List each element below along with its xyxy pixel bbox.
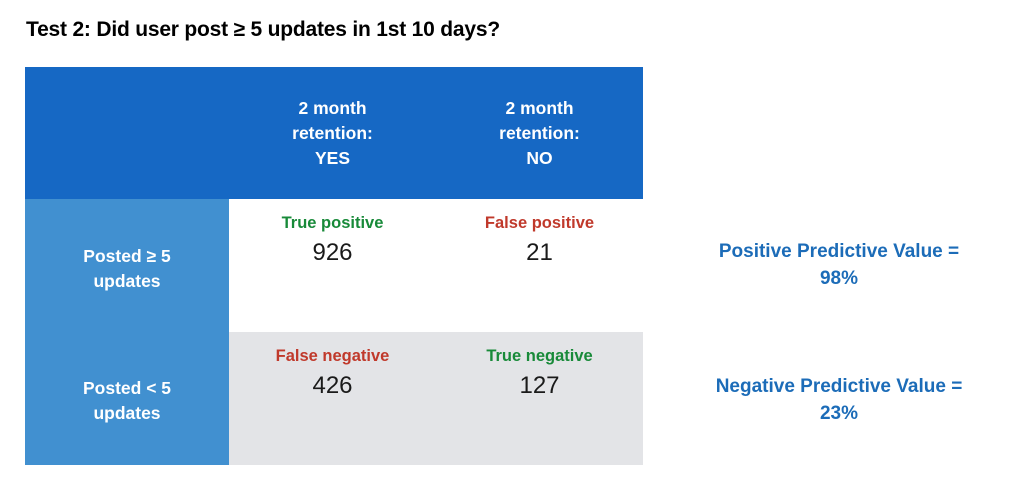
column-header-retention-yes-line2: retention: <box>229 121 436 146</box>
matrix-body: Posted ≥ 5 updates Posted < 5 updates Tr… <box>25 199 643 465</box>
cell-true-negative-label: True negative <box>436 346 643 366</box>
table-row: False negative 426 True negative 127 <box>229 332 643 465</box>
positive-predictive-value-annotation: Positive Predictive Value = 98% <box>660 238 1018 292</box>
column-header-retention-no: 2 month retention: NO <box>436 96 643 171</box>
cell-true-positive-value: 926 <box>229 238 436 268</box>
row-header-posted-lt-5: Posted < 5 updates <box>25 376 229 426</box>
positive-predictive-value-label: Positive Predictive Value = <box>660 238 1018 265</box>
column-header-retention-yes-line3: YES <box>229 146 436 171</box>
negative-predictive-value-label: Negative Predictive Value = <box>660 373 1018 400</box>
column-header-retention-yes-line1: 2 month <box>229 96 436 121</box>
confusion-matrix: 2 month retention: YES 2 month retention… <box>25 67 643 465</box>
cell-true-negative: True negative 127 <box>436 332 643 465</box>
matrix-corner-cell <box>25 67 229 199</box>
cell-true-positive: True positive 926 <box>229 199 436 332</box>
row-header-posted-ge-5-line2: updates <box>25 269 229 294</box>
cell-false-positive: False positive 21 <box>436 199 643 332</box>
matrix-header-row: 2 month retention: YES 2 month retention… <box>25 67 643 199</box>
page-title: Test 2: Did user post ≥ 5 updates in 1st… <box>26 18 500 42</box>
row-header-posted-ge-5-line1: Posted ≥ 5 <box>25 244 229 269</box>
row-header-posted-lt-5-line2: updates <box>25 401 229 426</box>
positive-predictive-value-number: 98% <box>660 265 1018 292</box>
column-header-retention-no-line3: NO <box>436 146 643 171</box>
cell-false-negative-label: False negative <box>229 346 436 366</box>
cell-false-positive-value: 21 <box>436 238 643 268</box>
cell-false-negative-value: 426 <box>229 371 436 401</box>
cell-true-positive-label: True positive <box>229 213 436 233</box>
table-row: True positive 926 False positive 21 <box>229 199 643 332</box>
cell-false-positive-label: False positive <box>436 213 643 233</box>
column-header-retention-no-line1: 2 month <box>436 96 643 121</box>
row-header-posted-ge-5: Posted ≥ 5 updates <box>25 244 229 294</box>
row-header-posted-lt-5-line1: Posted < 5 <box>25 376 229 401</box>
negative-predictive-value-number: 23% <box>660 400 1018 427</box>
cell-true-negative-value: 127 <box>436 371 643 401</box>
negative-predictive-value-annotation: Negative Predictive Value = 23% <box>660 373 1018 427</box>
column-header-retention-yes: 2 month retention: YES <box>229 96 436 171</box>
matrix-row-header-column: Posted ≥ 5 updates Posted < 5 updates <box>25 199 229 465</box>
cell-false-negative: False negative 426 <box>229 332 436 465</box>
column-header-retention-no-line2: retention: <box>436 121 643 146</box>
